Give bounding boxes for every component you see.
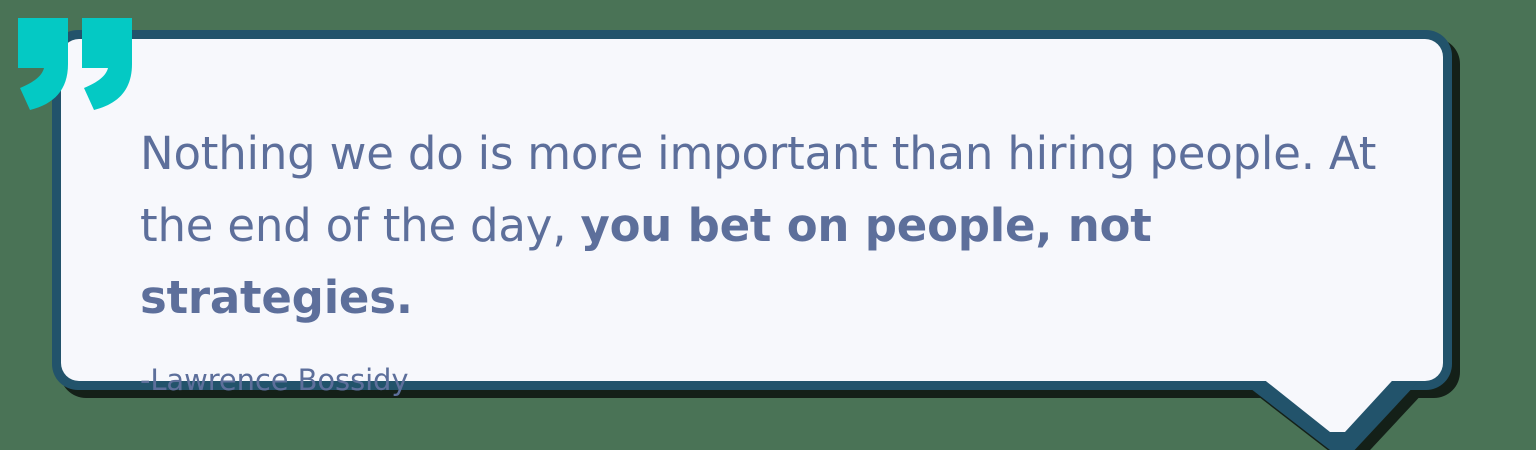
quote-text: Nothing we do is more important than hir… xyxy=(140,118,1395,334)
double-quotation-mark-icon xyxy=(14,18,136,110)
quote-callout-card: Nothing we do is more important than hir… xyxy=(0,0,1536,430)
quote-text-line-2-normal: the end of the day, xyxy=(140,199,580,252)
quote-text-line-1: Nothing we do is more important than hir… xyxy=(140,127,1376,180)
quote-content: Nothing we do is more important than hir… xyxy=(140,118,1400,398)
quote-attribution: -Lawrence Bossidy xyxy=(140,362,1400,398)
